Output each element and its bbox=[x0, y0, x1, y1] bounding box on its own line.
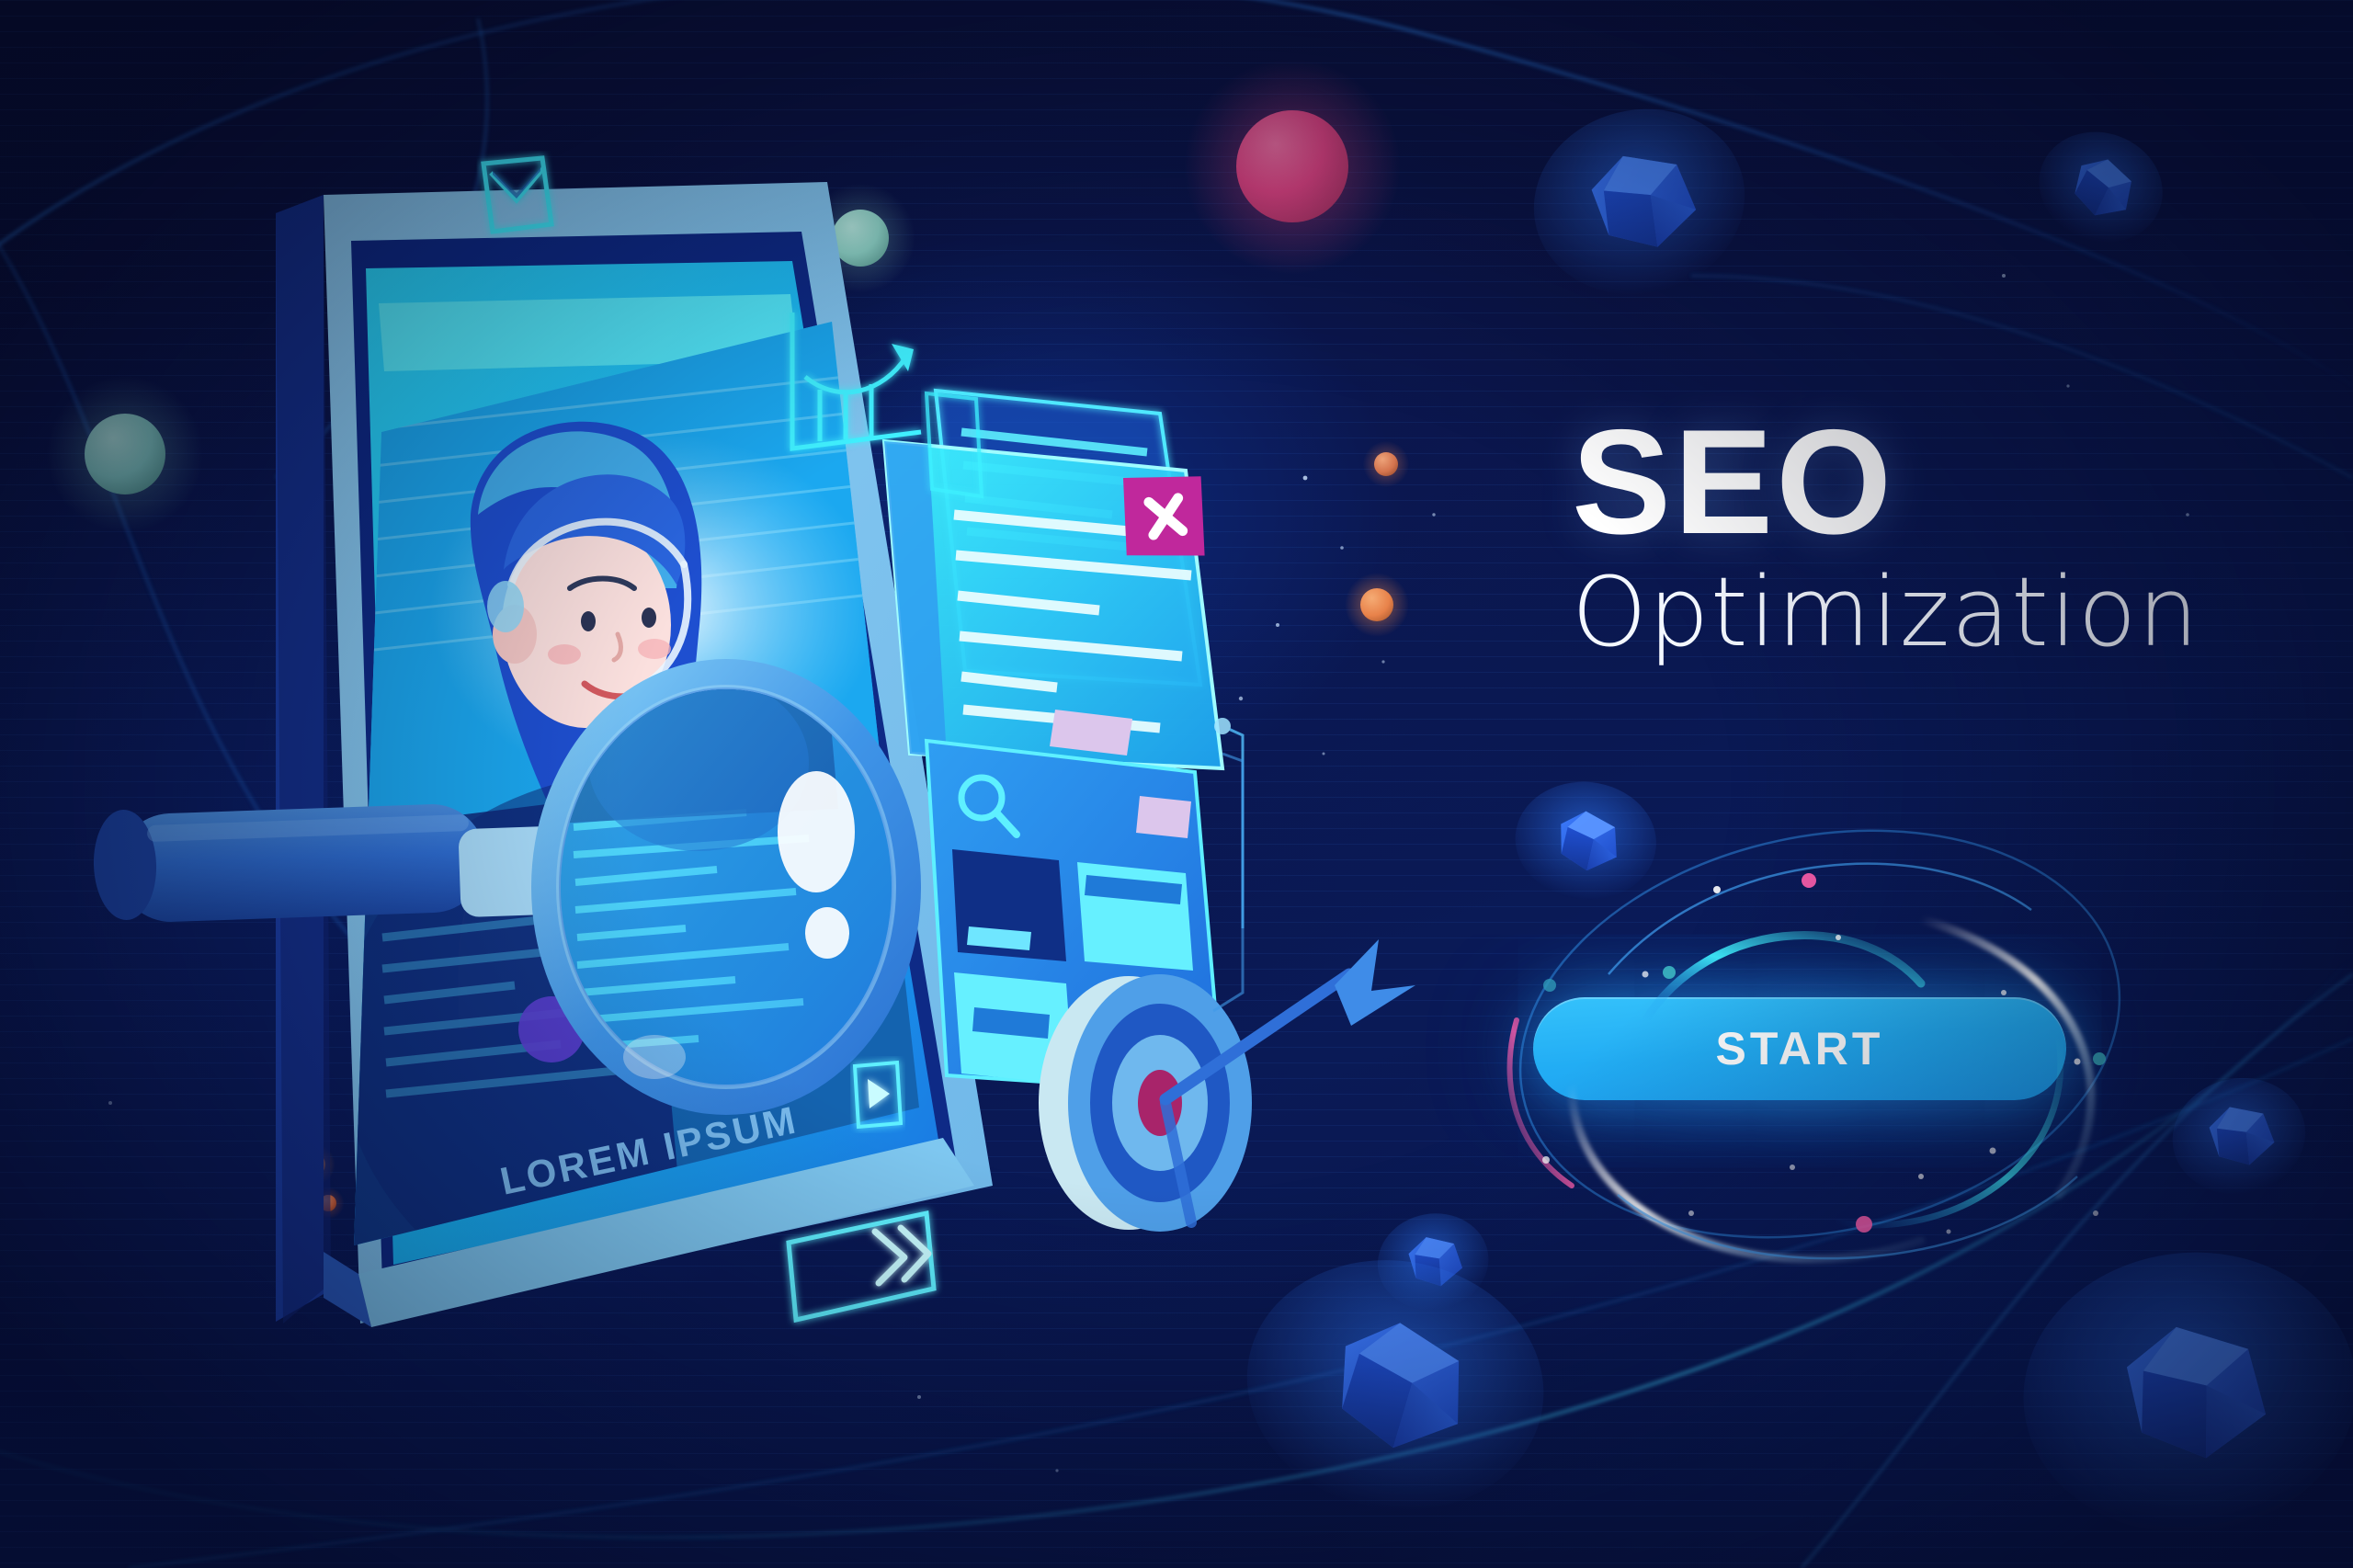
forward-chevron-icon[interactable] bbox=[789, 1213, 934, 1320]
headline-block: SEO Optimization bbox=[1572, 412, 2200, 664]
lens-highlight-large bbox=[778, 771, 855, 892]
monitor-shadow bbox=[276, 195, 331, 1324]
panel-guide-lines bbox=[1213, 754, 1243, 1011]
lens-highlight-small bbox=[805, 907, 849, 959]
particle-pink-2 bbox=[1856, 1216, 1872, 1233]
page-subtitle: Optimization bbox=[1572, 561, 2200, 664]
panel-chip-pink bbox=[1136, 796, 1191, 838]
particle-teal-1 bbox=[1663, 966, 1676, 979]
particle-teal-3 bbox=[2093, 1052, 2106, 1065]
close-badge-icon[interactable] bbox=[1116, 467, 1211, 566]
cta-zone: START bbox=[1489, 809, 2169, 1259]
cta-orbit-arcs bbox=[1489, 809, 2169, 1259]
page-title: SEO bbox=[1572, 412, 2200, 553]
particle-teal-2 bbox=[1543, 979, 1556, 992]
magnifier-handle bbox=[92, 802, 487, 924]
lens-highlight-faint bbox=[623, 1035, 686, 1079]
seo-illustration-layer: LOREM IPSUM bbox=[0, 0, 2353, 1568]
particle-pink-1 bbox=[1802, 873, 1816, 888]
seo-banner-canvas: LOREM IPSUM bbox=[0, 0, 2353, 1568]
